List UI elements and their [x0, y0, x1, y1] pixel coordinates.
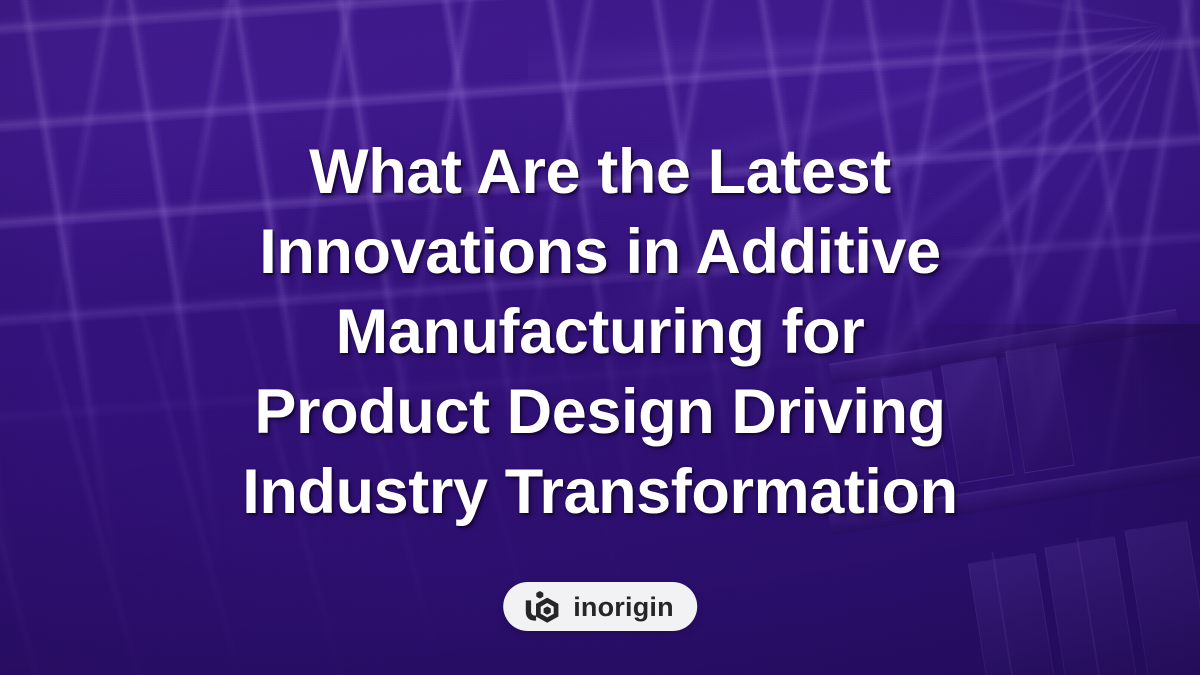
headline-line-5: Industry Transformation: [100, 452, 1100, 532]
inorigin-cube-monogram-icon: [522, 590, 562, 624]
headline-line-1: What Are the Latest: [100, 132, 1100, 212]
headline-line-2: Innovations in Additive: [100, 212, 1100, 292]
hero-content: What Are the Latest Innovations in Addit…: [0, 0, 1200, 675]
hero-banner: What Are the Latest Innovations in Addit…: [0, 0, 1200, 675]
page-title: What Are the Latest Innovations in Addit…: [100, 132, 1100, 532]
brand-wordmark: inorigin: [573, 594, 674, 621]
brand-logo-pill[interactable]: inorigin: [503, 582, 697, 631]
headline-line-4: Product Design Driving: [100, 372, 1100, 452]
headline-line-3: Manufacturing for: [100, 292, 1100, 372]
